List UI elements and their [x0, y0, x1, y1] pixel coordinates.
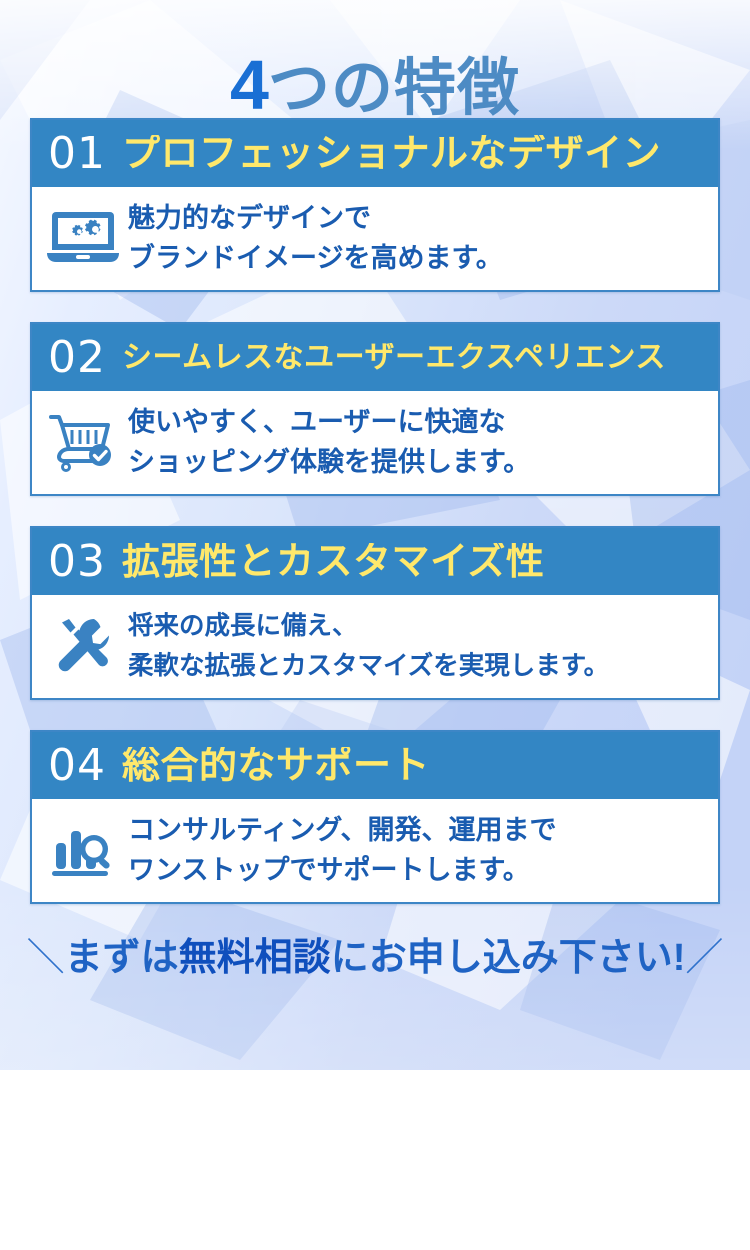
feature-card-04-header: 04 総合的なサポート — [32, 732, 718, 799]
feature-card-02-title: シームレスなユーザーエクスペリエンス — [122, 343, 718, 373]
feature-card-01-body: 魅力的なデザインで ブランドイメージを高めます。 — [32, 187, 718, 290]
feature-card-04[interactable]: 04 総合的なサポート コンサルティング、開発、運用まで — [30, 730, 720, 904]
cta-slash-left: ＼ — [27, 937, 65, 979]
feature-card-04-description: コンサルティング、開発、運用まで ワンストップでサポートします。 — [128, 810, 706, 890]
page-title-text: つの特徴 — [268, 54, 520, 123]
footer-spacer — [0, 982, 750, 1152]
cta-text-after: にお申し込み下さい! — [331, 937, 686, 979]
page-title: 4つの特徴 — [0, 0, 750, 118]
feature-card-02-body: 使いやすく、ユーザーに快適な ショッピング体験を提供します。 — [32, 391, 718, 494]
shopping-cart-check-icon — [46, 405, 120, 479]
page-root: 4つの特徴 01 プロフェッショナルなデザイン — [0, 0, 750, 1250]
feature-card-02-header: 02 シームレスなユーザーエクスペリエンス — [32, 324, 718, 391]
feature-card-03[interactable]: 03 拡張性とカスタマイズ性 将来の成長に備え、 柔軟な拡張とカスタマイズを実現… — [30, 526, 720, 700]
feature-card-03-title: 拡張性とカスタマイズ性 — [122, 543, 718, 581]
laptop-gears-icon — [46, 201, 120, 275]
feature-card-04-number: 04 — [48, 744, 106, 788]
cta-text-before: まずは — [65, 937, 179, 979]
feature-card-01-title: プロフェッショナルなデザイン — [122, 135, 718, 173]
feature-card-03-number: 03 — [48, 540, 106, 584]
feature-card-01-description: 魅力的なデザインで ブランドイメージを高めます。 — [128, 198, 706, 278]
cta-slash-right: ／ — [685, 937, 723, 979]
cta-text: ＼まずは無料相談にお申し込み下さい!／ — [0, 934, 750, 982]
wrench-screwdriver-icon — [46, 609, 120, 683]
feature-card-04-desc-line2: ワンストップでサポートします。 — [128, 850, 706, 890]
feature-card-04-body: コンサルティング、開発、運用まで ワンストップでサポートします。 — [32, 799, 718, 902]
feature-card-01-desc-line2: ブランドイメージを高めます。 — [128, 238, 706, 278]
feature-card-03-description: 将来の成長に備え、 柔軟な拡張とカスタマイズを実現します。 — [128, 606, 706, 686]
feature-card-02-number: 02 — [48, 336, 106, 380]
cta-text-emphasis: 無料相談 — [179, 937, 331, 979]
feature-card-03-desc-line1: 将来の成長に備え、 — [128, 612, 358, 640]
feature-card-02-description: 使いやすく、ユーザーに快適な ショッピング体験を提供します。 — [128, 402, 706, 482]
feature-card-01[interactable]: 01 プロフェッショナルなデザイン — [30, 118, 720, 292]
feature-card-04-title: 総合的なサポート — [122, 747, 718, 785]
feature-card-03-desc-line2: 柔軟な拡張とカスタマイズを実現します。 — [128, 646, 706, 686]
feature-card-04-desc-line1: コンサルティング、開発、運用まで — [128, 815, 557, 845]
bar-chart-magnifier-icon — [46, 813, 120, 887]
feature-card-list: 01 プロフェッショナルなデザイン — [30, 118, 720, 904]
feature-card-01-header: 01 プロフェッショナルなデザイン — [32, 120, 718, 187]
feature-card-02[interactable]: 02 シームレスなユーザーエクスペリエンス 使いやすく、 — [30, 322, 720, 496]
feature-card-01-number: 01 — [48, 132, 106, 176]
feature-card-03-header: 03 拡張性とカスタマイズ性 — [32, 528, 718, 595]
page-title-number: 4 — [230, 46, 268, 124]
feature-card-02-desc-line1: 使いやすく、ユーザーに快適な — [128, 407, 505, 437]
feature-card-01-desc-line1: 魅力的なデザインで — [128, 203, 371, 233]
feature-card-03-body: 将来の成長に備え、 柔軟な拡張とカスタマイズを実現します。 — [32, 595, 718, 698]
feature-card-02-desc-line2: ショッピング体験を提供します。 — [128, 442, 706, 482]
